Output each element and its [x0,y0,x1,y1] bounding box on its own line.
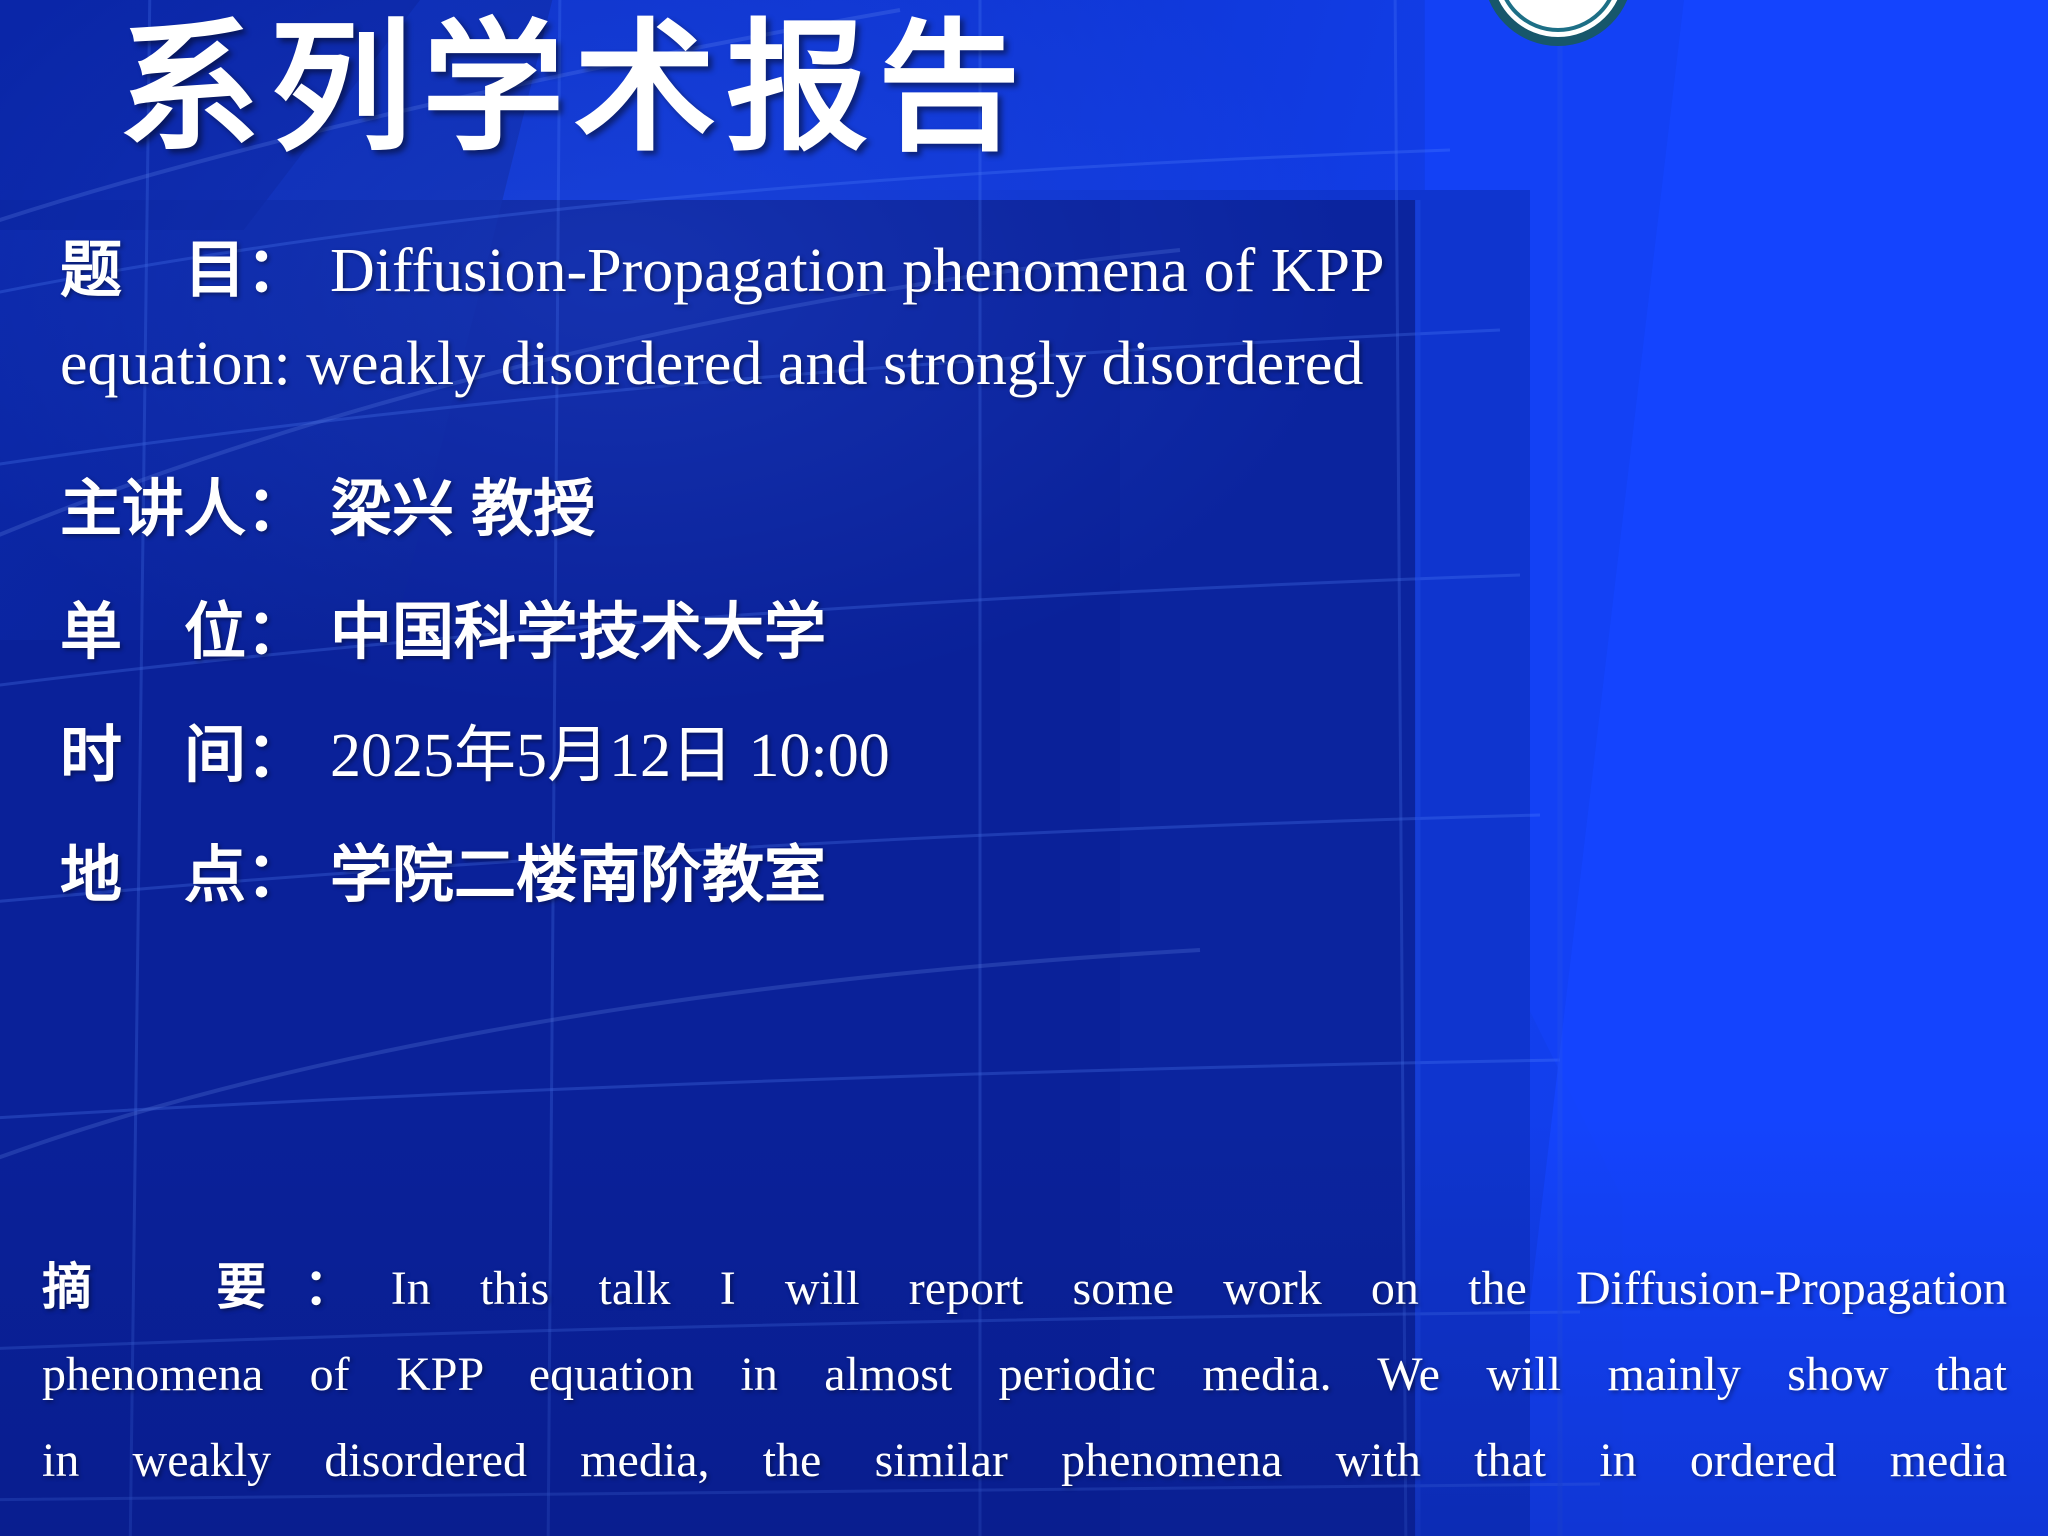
field-topic: 题 目：Diffusion-Propagation phenomena of K… [60,236,1990,400]
speaker-label: 主讲人： [60,479,330,541]
time-value: 2025年5月12日 10:00 [330,722,890,790]
topic-value-line1: Diffusion-Propagation phenomena of KPP [330,237,1384,305]
abstract-block: 摘 要：In this talk I will report some work… [42,1244,2007,1504]
field-speaker: 主讲人：梁兴 教授 [60,458,595,548]
topic-value-line2: equation: weakly disordered and strongly… [60,329,1990,400]
field-time: 时 间：2025年5月12日 10:00 [60,704,890,794]
abstract-line-1: 摘 要：In this talk I will report some work… [42,1244,2007,1332]
poster-content: 系列学术报告 题 目：Diffusion-Propagation phenome… [0,0,2048,1536]
abstract-line-2: phenomena of KPP equation in almost peri… [42,1332,2007,1418]
abstract-label: 摘 要： [42,1259,391,1315]
location-label: 地 点： [60,845,330,907]
affiliation-value: 中国科学技术大学 [330,598,826,667]
abstract-text-1: In this talk I will report some work on … [391,1262,2007,1315]
topic-label: 题 目： [60,240,330,302]
field-location: 地 点：学院二楼南阶教室 [60,824,826,914]
location-value: 学院二楼南阶教室 [330,841,826,910]
time-label: 时 间： [60,725,330,787]
abstract-line-3: in weakly disordered media, the similar … [42,1418,2007,1504]
speaker-value: 梁兴 教授 [330,475,595,544]
affiliation-label: 单 位： [60,602,330,664]
seminar-poster: 系列学术报告 题 目：Diffusion-Propagation phenome… [0,0,2048,1536]
page-title: 系列学术报告 [118,18,1030,160]
field-affiliation: 单 位：中国科学技术大学 [60,581,826,671]
